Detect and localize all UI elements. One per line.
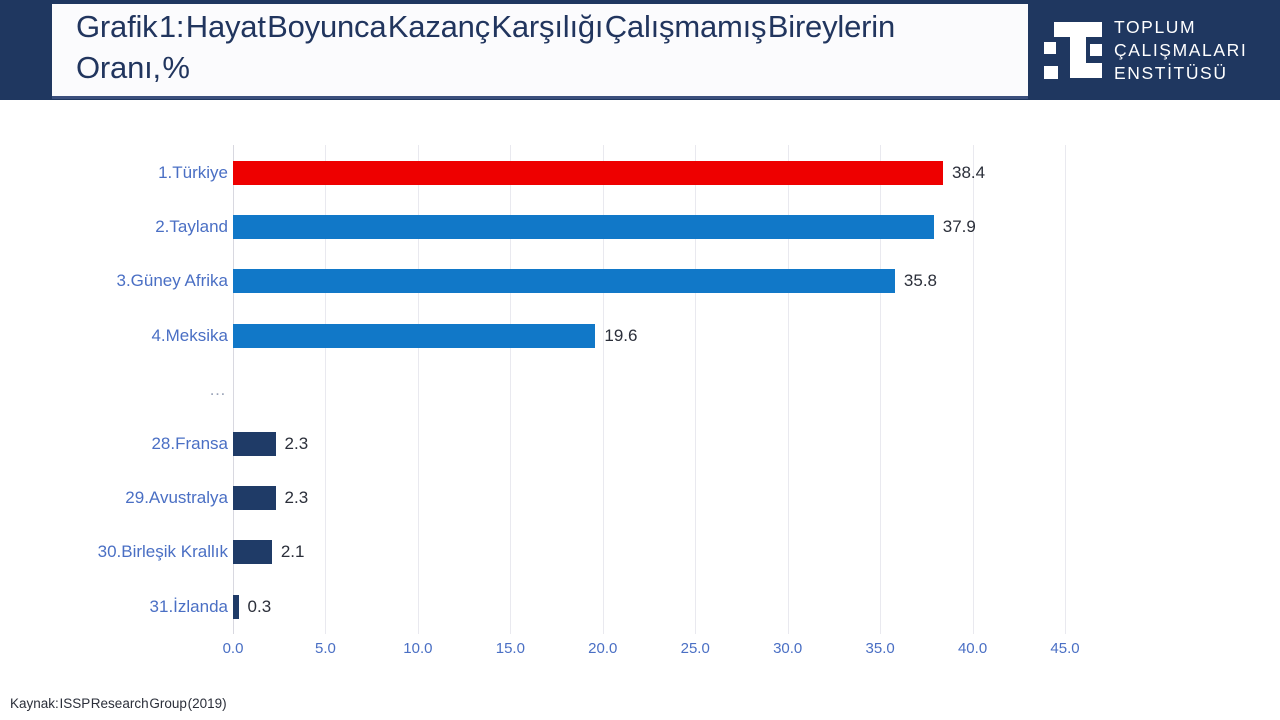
category-label: 2.Tayland (0, 212, 228, 242)
bar-value-label: 2.1 (281, 537, 305, 567)
bar (233, 486, 276, 510)
bar-rows: 1.Türkiye38.42.Tayland37.93.Güney Afrika… (0, 145, 1280, 634)
header-title-panel: Grafik 1: Hayat Boyunca Kazanç Karşılığı… (52, 4, 1028, 96)
chart-area: 1.Türkiye38.42.Tayland37.93.Güney Afrika… (0, 100, 1280, 720)
bar-value-label: 37.9 (943, 212, 976, 242)
brand-logo-text: TOPLUM ÇALIŞMALARI ENSTİTÜSÜ (1114, 16, 1247, 85)
x-axis-tick: 35.0 (866, 640, 895, 657)
category-label: 4.Meksika (0, 321, 228, 351)
bar-value-label: 38.4 (952, 158, 985, 188)
page-title: Grafik 1: Hayat Boyunca Kazanç Karşılığı… (76, 6, 1026, 88)
category-label: 1.Türkiye (0, 158, 228, 188)
bar (233, 540, 272, 564)
institute-mark-icon (1044, 14, 1106, 86)
bar (233, 269, 895, 293)
bar-value-label: 19.6 (604, 321, 637, 351)
bar-value-label: 0.3 (248, 592, 272, 622)
x-axis-tick: 10.0 (403, 640, 432, 657)
bar (233, 215, 934, 239)
x-axis: 0.05.010.015.020.025.030.035.040.045.0 (0, 634, 1280, 664)
brand-line-2: ÇALIŞMALARI (1114, 39, 1247, 62)
header-underline (52, 96, 1028, 99)
bar-value-label: 2.3 (285, 483, 309, 513)
bar-row: 29.Avustralya2.3 (0, 483, 1280, 513)
brand-line-1: TOPLUM (1114, 16, 1247, 39)
bar (233, 432, 276, 456)
bar-row: 4.Meksika19.6 (0, 321, 1280, 351)
category-label: 31.İzlanda (0, 592, 228, 622)
bar-row: 3.Güney Afrika35.8 (0, 266, 1280, 296)
x-axis-tick: 30.0 (773, 640, 802, 657)
bar-value-label: 2.3 (285, 429, 309, 459)
bar-row: 1.Türkiye38.4 (0, 158, 1280, 188)
bar-row: 31.İzlanda0.3 (0, 592, 1280, 622)
source-note: Kaynak: ISSP Research Group (2019) (10, 696, 227, 711)
x-axis-tick: 0.0 (223, 640, 244, 657)
bar (233, 161, 943, 185)
category-label: 29.Avustralya (0, 483, 228, 513)
category-label: 3.Güney Afrika (0, 266, 228, 296)
x-axis-tick: 40.0 (958, 640, 987, 657)
bar-row: 2.Tayland37.9 (0, 212, 1280, 242)
bar-row: … (0, 375, 1280, 405)
header-band: Grafik 1: Hayat Boyunca Kazanç Karşılığı… (0, 0, 1280, 100)
x-axis-tick: 15.0 (496, 640, 525, 657)
x-axis-tick: 5.0 (315, 640, 336, 657)
brand-logo: TOPLUM ÇALIŞMALARI ENSTİTÜSÜ (1044, 8, 1272, 92)
bar-value-label: 35.8 (904, 266, 937, 296)
category-label: … (0, 375, 228, 405)
x-axis-tick: 45.0 (1050, 640, 1079, 657)
bar-row: 30.Birleşik Krallık2.1 (0, 537, 1280, 567)
bar (233, 324, 595, 348)
brand-line-3: ENSTİTÜSÜ (1114, 62, 1247, 85)
x-axis-tick: 20.0 (588, 640, 617, 657)
category-label: 30.Birleşik Krallık (0, 537, 228, 567)
x-axis-tick: 25.0 (681, 640, 710, 657)
bar (233, 595, 239, 619)
category-label: 28.Fransa (0, 429, 228, 459)
bar-row: 28.Fransa2.3 (0, 429, 1280, 459)
